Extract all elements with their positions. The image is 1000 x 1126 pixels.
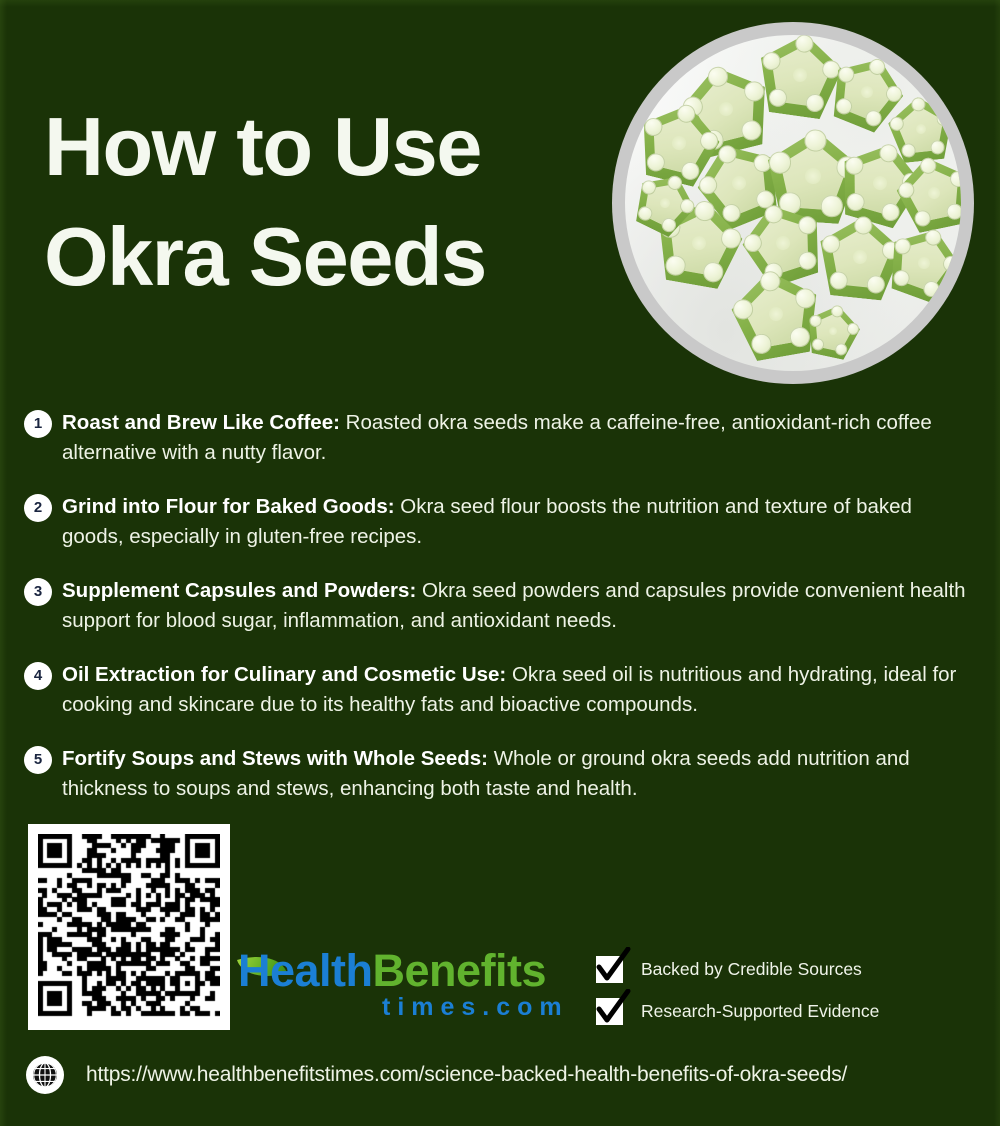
header: How to Use Okra Seeds (0, 0, 1000, 400)
list-item-number: 3 (24, 578, 52, 606)
list-item-number: 1 (24, 410, 52, 438)
list-item: 5Fortify Soups and Stews with Whole Seed… (0, 744, 1000, 804)
trust-badge: Backed by Credible Sources (596, 948, 936, 990)
list-item: 3Supplement Capsules and Powders: Okra s… (0, 576, 1000, 636)
list-item-number: 2 (24, 494, 52, 522)
list-item-heading: Fortify Soups and Stews with Whole Seeds… (62, 747, 488, 770)
list-item-number: 4 (24, 662, 52, 690)
qr-code-image (38, 834, 220, 1020)
title-line-1: How to Use (44, 92, 624, 202)
title-line-2: Okra Seeds (44, 202, 624, 312)
okra-photo-circle (612, 22, 974, 384)
tips-list: 1Roast and Brew Like Coffee: Roasted okr… (0, 408, 1000, 828)
page-title: How to Use Okra Seeds (44, 92, 624, 311)
logo-part-health: Health (238, 945, 373, 996)
logo-subtitle: times.com (382, 993, 569, 1022)
logo-part-benefits: Benefits (373, 945, 547, 996)
okra-photo (625, 35, 961, 371)
list-item-heading: Supplement Capsules and Powders: (62, 579, 416, 602)
list-item-heading: Grind into Flour for Baked Goods: (62, 495, 395, 518)
checkmark-icon (596, 998, 623, 1025)
list-item: 1Roast and Brew Like Coffee: Roasted okr… (0, 408, 1000, 468)
trust-badge-label: Research-Supported Evidence (641, 1001, 879, 1022)
checkmark-icon (596, 956, 623, 983)
list-item-heading: Roast and Brew Like Coffee: (62, 411, 340, 434)
trust-badge: Research-Supported Evidence (596, 990, 936, 1032)
list-item-number: 5 (24, 746, 52, 774)
site-logo: HealthBenefits times.com (238, 945, 583, 1033)
infographic-page: How to Use Okra Seeds 1Roast and Brew Li… (0, 0, 1000, 1126)
list-item: 2Grind into Flour for Baked Goods: Okra … (0, 492, 1000, 552)
qr-code[interactable] (28, 824, 230, 1030)
url-bar: https://www.healthbenefitstimes.com/scie… (26, 1047, 976, 1103)
list-item-text: Roast and Brew Like Coffee: Roasted okra… (62, 408, 976, 468)
okra-slice (802, 300, 864, 362)
trust-badges: Backed by Credible SourcesResearch-Suppo… (596, 948, 936, 1032)
list-item-text: Supplement Capsules and Powders: Okra se… (62, 576, 976, 636)
globe-icon (26, 1056, 64, 1094)
url-text[interactable]: https://www.healthbenefitstimes.com/scie… (86, 1063, 847, 1087)
trust-badge-label: Backed by Credible Sources (641, 959, 862, 980)
logo-wordmark: HealthBenefits (238, 945, 546, 997)
list-item-text: Oil Extraction for Culinary and Cosmetic… (62, 660, 976, 720)
list-item-heading: Oil Extraction for Culinary and Cosmetic… (62, 663, 506, 686)
list-item-text: Grind into Flour for Baked Goods: Okra s… (62, 492, 976, 552)
list-item-text: Fortify Soups and Stews with Whole Seeds… (62, 744, 976, 804)
list-item: 4Oil Extraction for Culinary and Cosmeti… (0, 660, 1000, 720)
